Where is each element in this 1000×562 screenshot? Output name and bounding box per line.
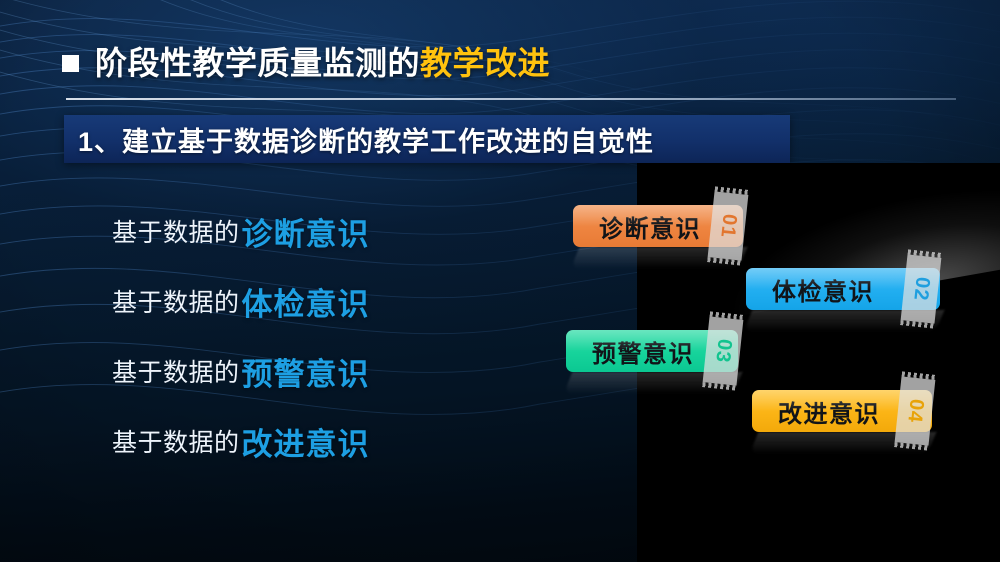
tag-card-03: 预警意识 03: [566, 330, 738, 372]
section-banner-text: 1、建立基于数据诊断的教学工作改进的自觉性: [64, 120, 654, 159]
list-item: 基于数据的 体检意识: [112, 266, 532, 336]
tag-tape-icon: 03: [703, 316, 744, 385]
list-item: 基于数据的 改进意识: [112, 406, 532, 476]
list-item-keyword: 体检意识: [242, 279, 370, 324]
list-item-prefix: 基于数据的: [112, 353, 240, 389]
tag-label: 改进意识: [752, 394, 880, 429]
slide-canvas: 阶段性教学质量监测的教学改进 1、建立基于数据诊断的教学工作改进的自觉性 基于数…: [0, 0, 1000, 562]
tag-label: 诊断意识: [573, 209, 701, 244]
awareness-list: 基于数据的 诊断意识 基于数据的 体检意识 基于数据的 预警意识 基于数据的 改…: [112, 196, 532, 476]
tag-number: 03: [710, 338, 735, 365]
list-item-prefix: 基于数据的: [112, 283, 240, 319]
tag-label: 预警意识: [566, 334, 694, 369]
tag-card-04: 改进意识 04: [752, 390, 932, 432]
page-title: 阶段性教学质量监测的教学改进: [62, 38, 550, 84]
square-bullet-icon: [62, 55, 79, 72]
tag-number: 01: [715, 213, 740, 240]
tag-label: 体检意识: [746, 272, 874, 307]
list-item-keyword: 诊断意识: [242, 209, 370, 254]
list-item-prefix: 基于数据的: [112, 213, 240, 249]
list-item-keyword: 改进意识: [242, 419, 370, 464]
page-title-highlight: 教学改进: [420, 45, 550, 81]
tag-number: 04: [902, 398, 927, 425]
list-item-prefix: 基于数据的: [112, 423, 240, 459]
tag-card-01: 诊断意识 01: [573, 205, 743, 247]
tag-tape-icon: 04: [895, 376, 936, 445]
section-banner: 1、建立基于数据诊断的教学工作改进的自觉性: [64, 115, 790, 163]
list-item: 基于数据的 预警意识: [112, 336, 532, 406]
list-item: 基于数据的 诊断意识: [112, 196, 532, 266]
panel-sheen: [637, 163, 1000, 336]
tag-card-02: 体检意识 02: [746, 268, 940, 310]
tag-tape-icon: 02: [901, 254, 942, 323]
page-title-plain: 阶段性教学质量监测的: [95, 45, 420, 81]
tag-tape-icon: 01: [708, 191, 749, 260]
list-item-keyword: 预警意识: [242, 349, 370, 394]
header-divider: [66, 98, 956, 100]
tag-number: 02: [908, 276, 933, 303]
